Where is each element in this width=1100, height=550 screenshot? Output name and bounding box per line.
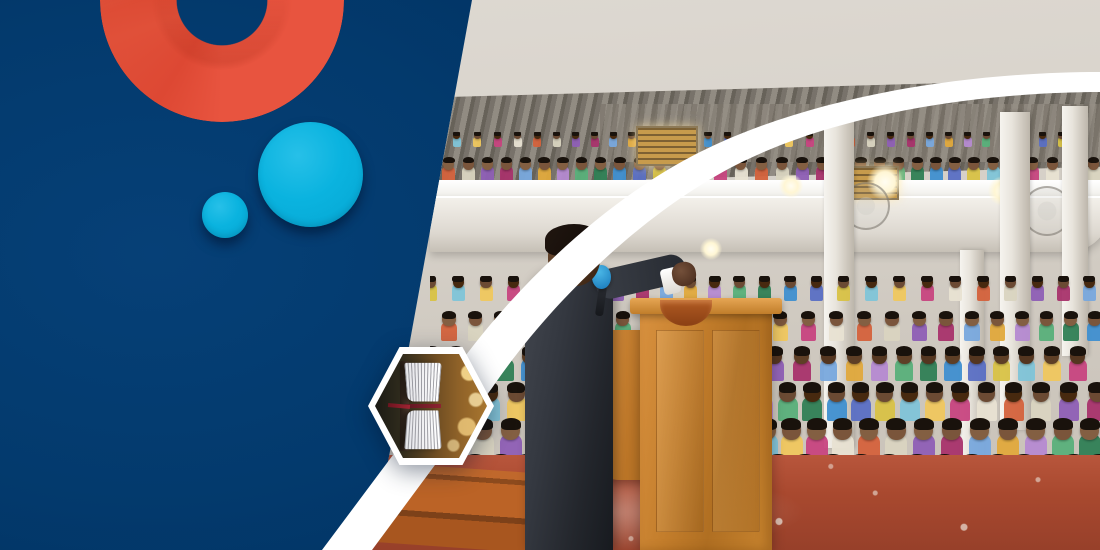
congregant-hair [977,276,989,282]
congregant-hair [1088,382,1100,393]
congregant-hair [709,276,721,282]
congregant-hair [1015,311,1029,319]
hanging-lamp-3 [779,174,803,198]
bible-page-right [404,410,441,449]
congregant-hair [507,382,525,393]
congregant-hair [572,132,579,136]
congregant-hair [463,157,474,164]
bible-page-left [404,363,441,402]
congregant-hair [1005,382,1023,393]
congregant-hair [553,132,560,136]
congregant-hair [779,382,797,393]
congregant-hair [765,132,772,136]
congregant-hair [538,157,549,164]
congregant-hair [1047,157,1058,164]
congregant-hair [443,157,454,164]
congregant-hair [759,276,771,282]
congregant-hair [801,311,815,319]
congregant-hair [482,157,493,164]
congregant-hair [838,276,850,282]
congregant-hair [912,157,923,164]
congregant-hair [452,276,464,282]
congregant-hair [874,157,885,164]
congregant-hair [1080,418,1100,430]
congregant-hair [939,311,953,319]
congregant-hair [480,276,492,282]
eyeglasses-icon [571,252,601,264]
congregant-hair [591,132,598,136]
congregant-hair [628,132,635,136]
congregant-hair [921,276,933,282]
congregant-hair [833,418,853,430]
congregant-hair [430,276,436,282]
congregant-hair [829,311,843,319]
congregant-hair [990,311,1004,319]
congregant-hair [1058,276,1070,282]
pulpit-panel-right [712,330,760,532]
congregant-hair [887,132,894,136]
congregant-hair [865,276,877,282]
congregant-hair [468,311,482,319]
congregant-hair [715,157,726,164]
bible-ribbon-bookmark [388,403,410,409]
congregant-hair [1005,276,1017,282]
congregant-hair [576,157,587,164]
congregant-hair [784,276,796,282]
congregant-hair [828,382,846,393]
congregant-hair [951,382,969,393]
congregant-hair [968,157,979,164]
cyan-circle-large-decor [258,122,363,227]
congregant-hair [514,132,521,136]
louvred-window-left [636,126,698,166]
congregant-hair [520,157,531,164]
congregant-hair [776,157,787,164]
congregant-hair [595,157,606,164]
congregant-hair [855,157,866,164]
congregant-hair [1088,157,1099,164]
congregant-hair [852,382,870,393]
congregant-hair [501,157,512,164]
congregant-hair [965,311,979,319]
congregant-hair [1018,346,1034,355]
congregant-hair [733,276,745,282]
congregant-hair [872,346,888,355]
congregant-hair [614,157,625,164]
cyan-circle-small-decor [202,192,248,238]
congregant-hair [945,346,961,355]
bible-spine [405,404,441,408]
congregant-hair [494,132,501,136]
congregant-hair [1088,311,1100,319]
congregant-hair [885,311,899,319]
congregant-hair [756,157,767,164]
congregant-hair [970,418,990,430]
congregant-hair [867,132,874,136]
congregant-hair [857,311,871,319]
congregant-hair [806,132,813,136]
congregant-hair [969,346,985,355]
congregant-hair [442,311,456,319]
congregant-hair [930,157,941,164]
congregant-hair [1026,418,1046,430]
congregant-hair [964,132,971,136]
congregant-hair [993,346,1009,355]
hero-banner: Church ministry hero banner [0,0,1100,550]
congregant-hair [1040,311,1054,319]
congregant-hair [744,132,751,136]
congregant-hair [796,157,807,164]
open-bible-icon [400,364,440,448]
congregant-hair [820,346,836,355]
congregant-hair [876,382,894,393]
congregant-hair [1044,346,1060,355]
congregant-hair [945,132,952,136]
congregant-hair [501,418,521,430]
congregant-hair [859,418,879,430]
congregant-hair [785,132,792,136]
congregant-hair [807,418,827,430]
congregant-hair [1070,346,1086,355]
congregant-hair [497,346,513,355]
congregant-hair [534,132,541,136]
congregant-hair [735,157,746,164]
congregant-hair [998,418,1018,430]
congregant-hair [907,132,914,136]
congregant-hair [610,132,617,136]
congregant-hair [474,132,481,136]
congregant-hair [886,418,906,430]
congregant-hair [942,418,962,430]
congregant-hair [893,157,904,164]
congregant-hair [1083,276,1095,282]
congregant-hair [983,132,990,136]
congregant-hair [803,382,821,393]
congregant-hair [1032,276,1044,282]
congregant-hair [949,157,960,164]
congregant-hair [724,132,731,136]
congregant-hair [949,276,961,282]
congregant-hair [896,346,912,355]
congregant-hair [781,418,801,430]
congregant-hair [912,311,926,319]
hanging-lamp-4 [700,238,722,260]
congregant-hair [811,276,823,282]
congregant-hair [914,418,934,430]
congregant-hair [704,132,711,136]
congregant-hair [987,157,998,164]
congregant-hair [1039,132,1046,136]
congregant-hair [1032,382,1050,393]
congregant-hair [846,346,862,355]
congregant-hair [921,346,937,355]
congregant-hair [453,132,460,136]
bible-hexagon-badge[interactable] [372,343,490,469]
congregant-hair [557,157,568,164]
congregant-hair [494,311,508,319]
congregant-hair [508,276,520,282]
congregant-hair [616,311,630,319]
congregant-hair [1060,382,1078,393]
congregant-hair [901,382,919,393]
congregant-hair [978,382,996,393]
congregant-hair [926,132,933,136]
congregant-hair [794,346,810,355]
congregant-hair [1053,418,1073,430]
congregant-hair [1064,311,1078,319]
congregant-hair [926,382,944,393]
pulpit-panel-left [656,330,704,532]
congregant-hair [893,276,905,282]
